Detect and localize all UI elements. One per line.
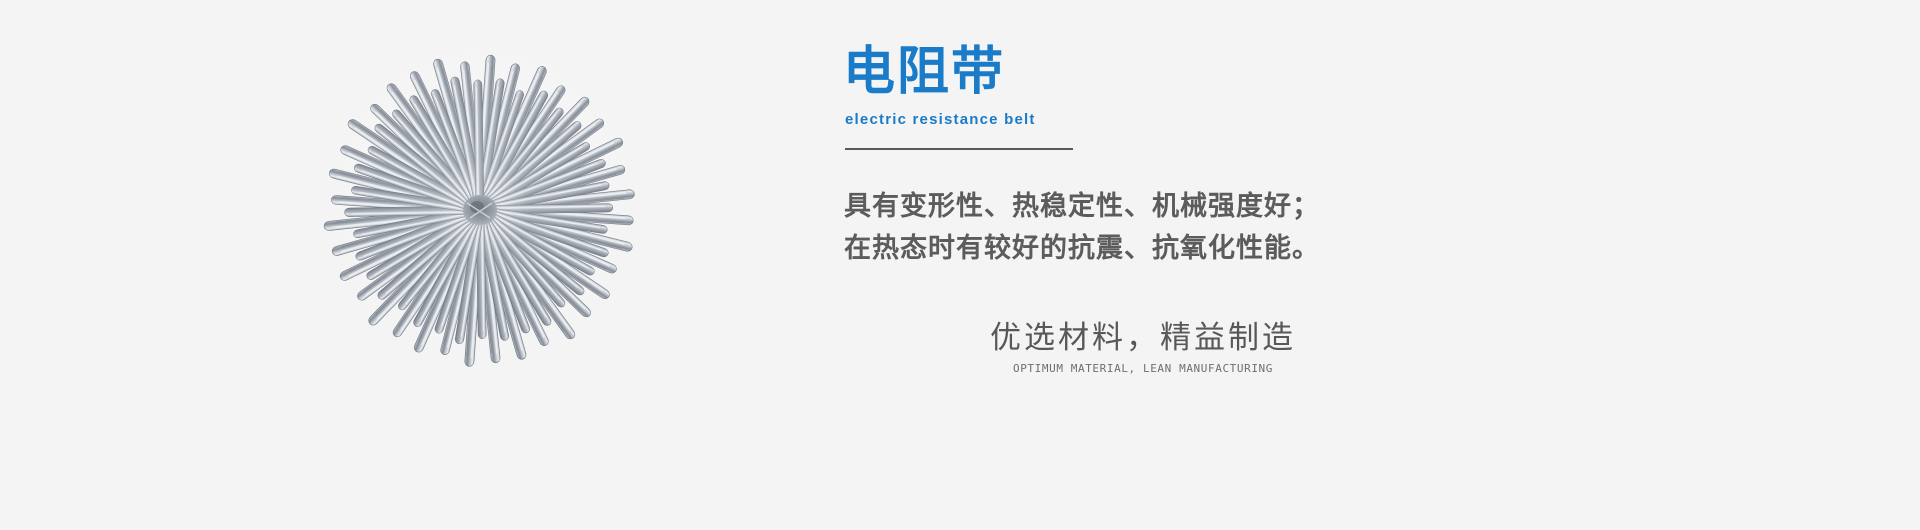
description-block: 具有变形性、热稳定性、机械强度好； 在热态时有较好的抗震、抗氧化性能。 xyxy=(844,186,1464,270)
description-line-2: 在热态时有较好的抗震、抗氧化性能。 xyxy=(844,228,1464,270)
banner-content: 电阻带 electric resistance belt 具有变形性、热稳定性、… xyxy=(843,0,1743,530)
description-line-1: 具有变形性、热稳定性、机械强度好； xyxy=(844,186,1464,228)
tagline-block: 优选材料，精益制造 OPTIMUM MATERIAL, LEAN MANUFAC… xyxy=(843,318,1443,377)
product-banner: 电阻带 electric resistance belt 具有变形性、热稳定性、… xyxy=(0,0,1920,530)
page-title: 电阻带 xyxy=(843,43,1363,101)
product-image xyxy=(300,35,660,375)
title-divider xyxy=(845,148,1073,150)
tagline-english: OPTIMUM MATERIAL, LEAN MANUFACTURING xyxy=(843,361,1443,377)
tagline-chinese: 优选材料，精益制造 xyxy=(843,318,1443,358)
page-subtitle: electric resistance belt xyxy=(845,111,1363,128)
title-block: 电阻带 electric resistance belt xyxy=(843,43,1363,128)
resistance-belt-burst-illustration xyxy=(300,35,660,375)
